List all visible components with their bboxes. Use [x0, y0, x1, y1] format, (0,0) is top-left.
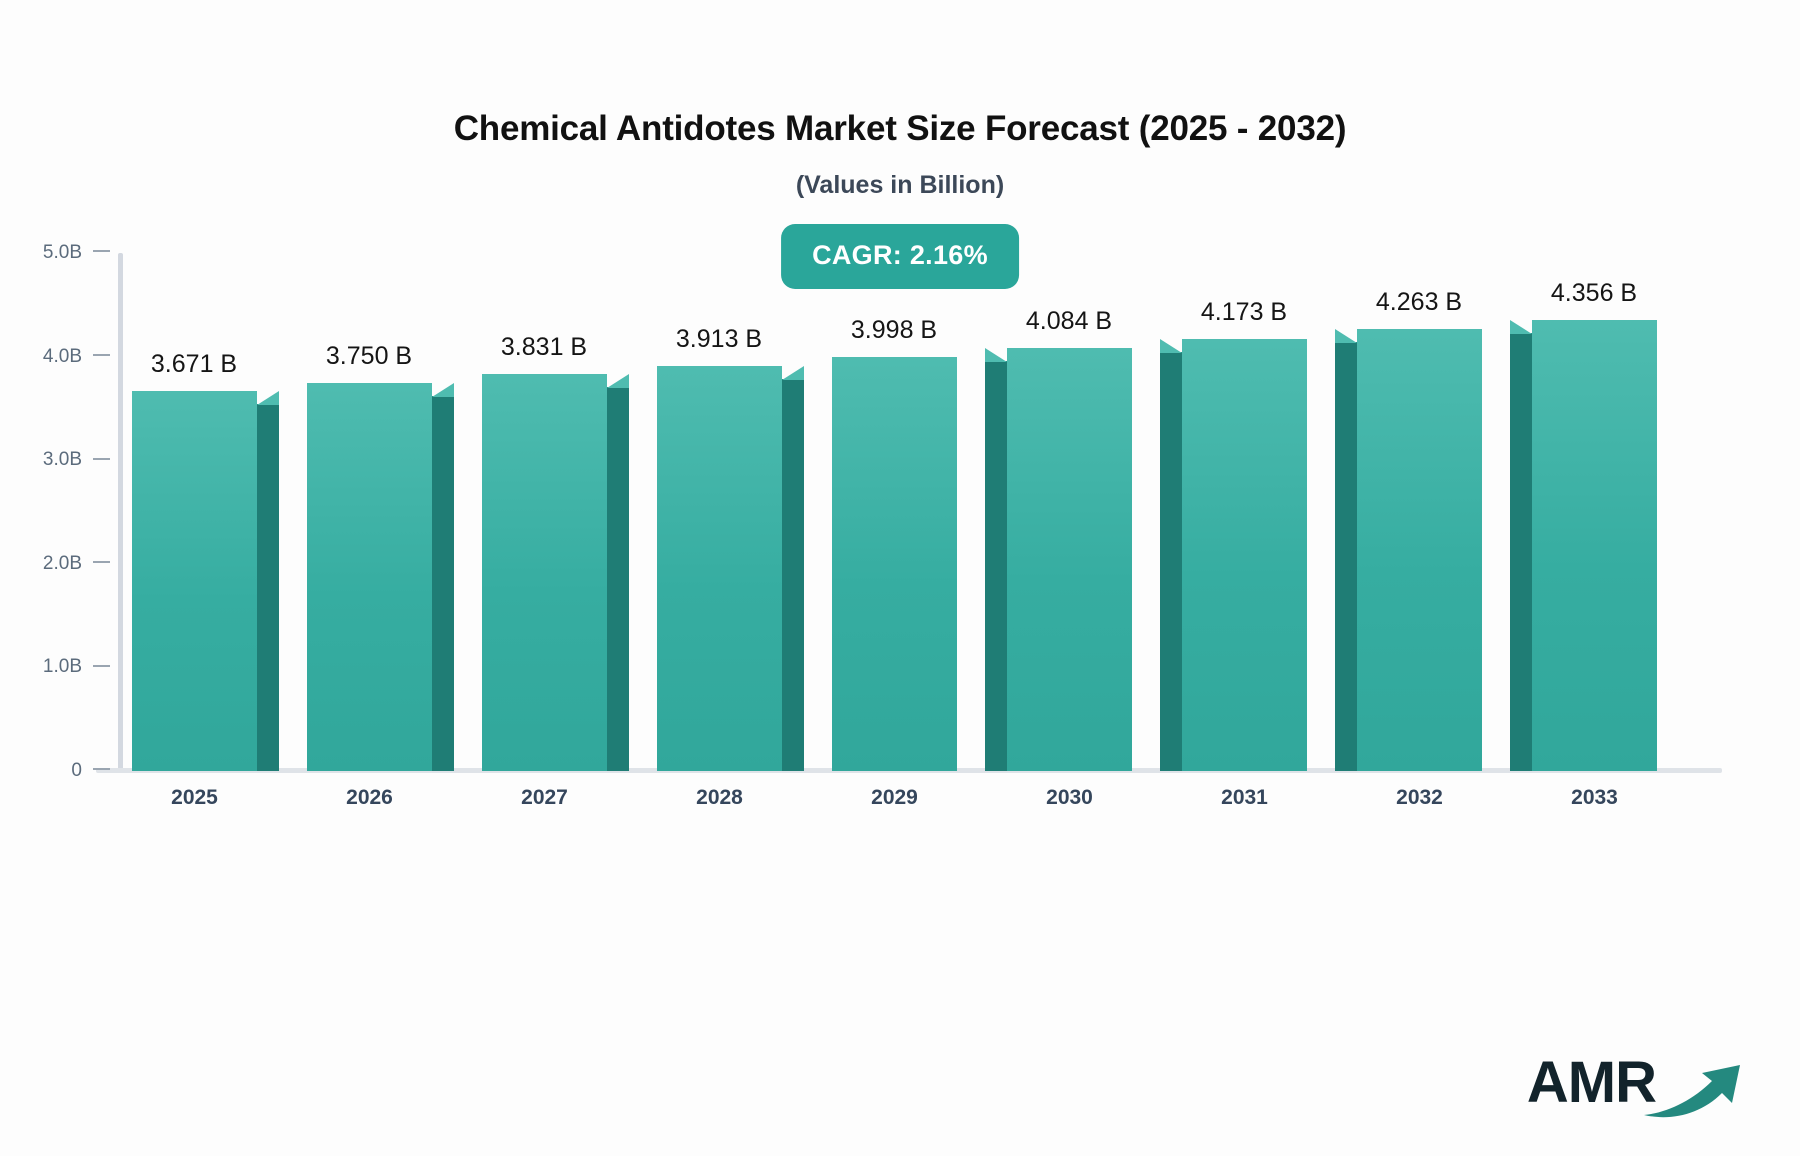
- bar-2030[interactable]: 4.084 B: [1007, 348, 1132, 771]
- bar-top-face: [985, 348, 1007, 362]
- bar-2033[interactable]: 4.356 B: [1532, 320, 1657, 771]
- bar-2029[interactable]: 3.998 B: [832, 357, 957, 771]
- x-axis-label-2028: 2028: [630, 786, 810, 810]
- bar-2031[interactable]: 4.173 B: [1182, 339, 1307, 771]
- x-axis-label-2030: 2030: [980, 786, 1160, 810]
- bar-top-face: [782, 366, 804, 380]
- bar-top-face: [1510, 320, 1532, 334]
- bar-value-label: 4.356 B: [1484, 279, 1704, 308]
- bar-front-face: [307, 383, 432, 772]
- bar-front-face: [482, 374, 607, 771]
- bar-front-face: [1182, 339, 1307, 771]
- bar-side-face: [782, 379, 804, 771]
- amr-logo: AMR: [1527, 1041, 1748, 1124]
- bar-top-face: [607, 374, 629, 388]
- x-axis-label-2032: 2032: [1330, 786, 1510, 810]
- x-axis-label-2033: 2033: [1505, 786, 1685, 810]
- plot-area: 01.0B2.0B3.0B4.0B5.0B 3.671 B3.750 B3.83…: [0, 0, 1800, 1156]
- growth-arrow-icon: [1640, 1057, 1748, 1124]
- bar-2028[interactable]: 3.913 B: [657, 366, 782, 771]
- bar-side-face: [257, 404, 279, 771]
- bar-side-face: [985, 361, 1007, 771]
- bar-front-face: [832, 357, 957, 771]
- bar-2025[interactable]: 3.671 B: [132, 391, 257, 771]
- bar-top-face: [1335, 329, 1357, 343]
- bar-side-face: [1160, 352, 1182, 771]
- bar-side-face: [432, 396, 454, 772]
- bar-top-face: [1160, 339, 1182, 353]
- x-axis-label-2025: 2025: [105, 786, 285, 810]
- amr-logo-text: AMR: [1527, 1054, 1656, 1112]
- bar-side-face: [607, 387, 629, 771]
- bar-front-face: [1007, 348, 1132, 771]
- bar-side-face: [1510, 333, 1532, 771]
- x-axis-label-2027: 2027: [455, 786, 635, 810]
- x-axis-label-2026: 2026: [280, 786, 460, 810]
- bar-top-face: [432, 383, 454, 397]
- bar-2026[interactable]: 3.750 B: [307, 383, 432, 772]
- x-axis-label-2029: 2029: [805, 786, 985, 810]
- bar-front-face: [1532, 320, 1657, 771]
- bar-front-face: [132, 391, 257, 771]
- bar-top-face: [257, 391, 279, 405]
- bar-series: 3.671 B3.750 B3.831 B3.913 B3.998 B4.084…: [0, 0, 1800, 1156]
- bar-2032[interactable]: 4.263 B: [1357, 329, 1482, 771]
- bar-front-face: [657, 366, 782, 771]
- x-axis-label-2031: 2031: [1155, 786, 1335, 810]
- bar-2027[interactable]: 3.831 B: [482, 374, 607, 771]
- bar-front-face: [1357, 329, 1482, 771]
- bar-side-face: [1335, 342, 1357, 771]
